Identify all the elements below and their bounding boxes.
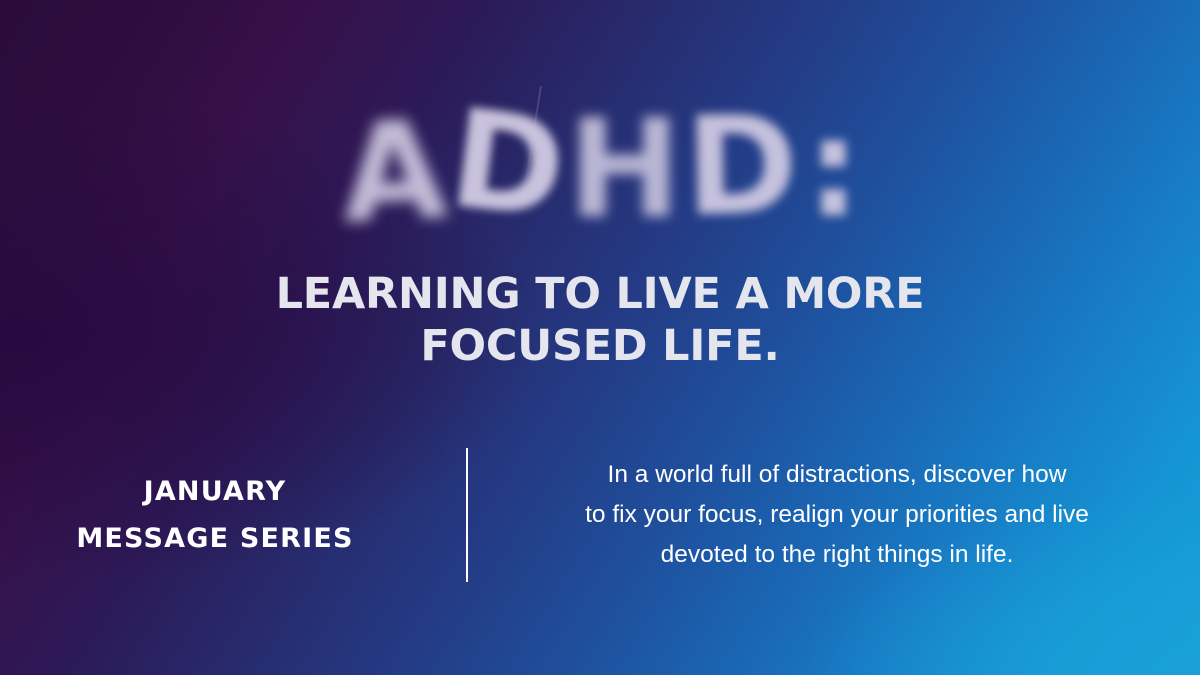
- series-subtitle: MESSAGE SERIES: [0, 515, 430, 562]
- title-letter-d2: D: [684, 98, 797, 236]
- description-line-2: to fix your focus, realign your prioriti…: [508, 495, 1166, 535]
- diagonal-streak-artifact: [521, 86, 542, 205]
- title-letter-d1: D: [443, 91, 570, 240]
- title-letter-colon: :: [806, 101, 858, 237]
- description-text: In a world full of distractions, discove…: [468, 455, 1200, 575]
- blurred-title-adhd: A D H D :: [0, 92, 1200, 242]
- series-month: JANUARY: [0, 468, 430, 515]
- title-letter-a: A: [338, 102, 448, 243]
- headline: LEARNING TO LIVE A MORE FOCUSED LIFE.: [0, 268, 1200, 372]
- lower-band: JANUARY MESSAGE SERIES In a world full o…: [0, 430, 1200, 600]
- title-letter-h: H: [568, 102, 680, 238]
- series-label: JANUARY MESSAGE SERIES: [0, 468, 466, 562]
- description-line-3: devoted to the right things in life.: [508, 535, 1166, 575]
- headline-line-2: FOCUSED LIFE.: [0, 320, 1200, 372]
- headline-line-1: LEARNING TO LIVE A MORE: [0, 268, 1200, 320]
- description-line-1: In a world full of distractions, discove…: [508, 455, 1166, 495]
- slide-canvas: A D H D : LEARNING TO LIVE A MORE FOCUSE…: [0, 0, 1200, 675]
